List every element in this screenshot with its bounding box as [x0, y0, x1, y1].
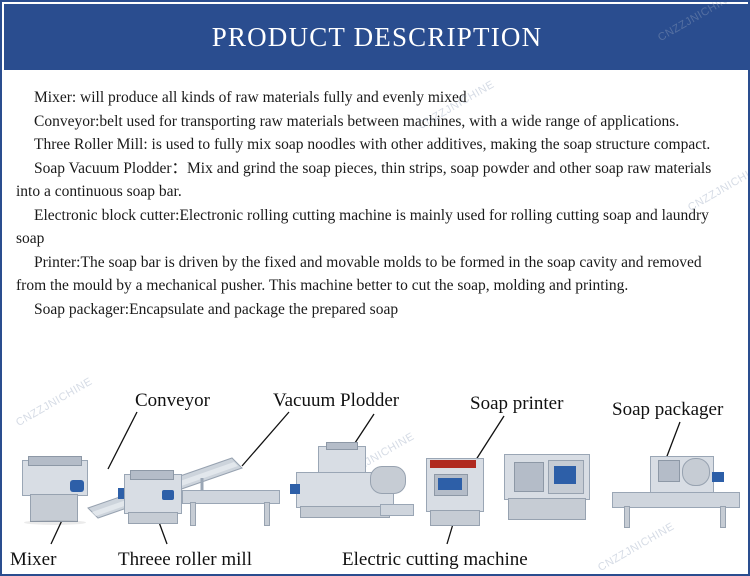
- machine-soap-printer: [500, 454, 596, 532]
- product-description-page: PRODUCT DESCRIPTION Mixer: will produce …: [0, 0, 750, 576]
- production-line-diagram: Conveyor Vacuum Plodder Soap printer Soa…: [4, 394, 750, 576]
- description-paragraph: Printer:The soap bar is driven by the fi…: [16, 251, 732, 298]
- description-paragraph: Soap packager:Encapsulate and package th…: [16, 298, 732, 322]
- description-paragraph: Mixer: will produce all kinds of raw mat…: [16, 86, 732, 110]
- description-body: Mixer: will produce all kinds of raw mat…: [16, 86, 732, 321]
- description-paragraph: Three Roller Mill: is used to fully mix …: [16, 133, 732, 157]
- page-title: PRODUCT DESCRIPTION: [212, 22, 543, 53]
- description-paragraph: Electronic block cutter:Electronic rolli…: [16, 204, 732, 251]
- machine-electric-cutting: [424, 458, 486, 530]
- machine-belt-conveyor: [182, 486, 278, 530]
- machine-three-roller-mill: [122, 470, 184, 526]
- description-paragraph: Conveyor:belt used for transporting raw …: [16, 110, 732, 134]
- machine-vacuum-plodder: [276, 446, 412, 530]
- page-header: PRODUCT DESCRIPTION: [4, 4, 750, 70]
- machine-soap-packager: [612, 456, 742, 532]
- description-paragraph: Soap Vacuum Plodder：Mix and grind the so…: [16, 157, 732, 204]
